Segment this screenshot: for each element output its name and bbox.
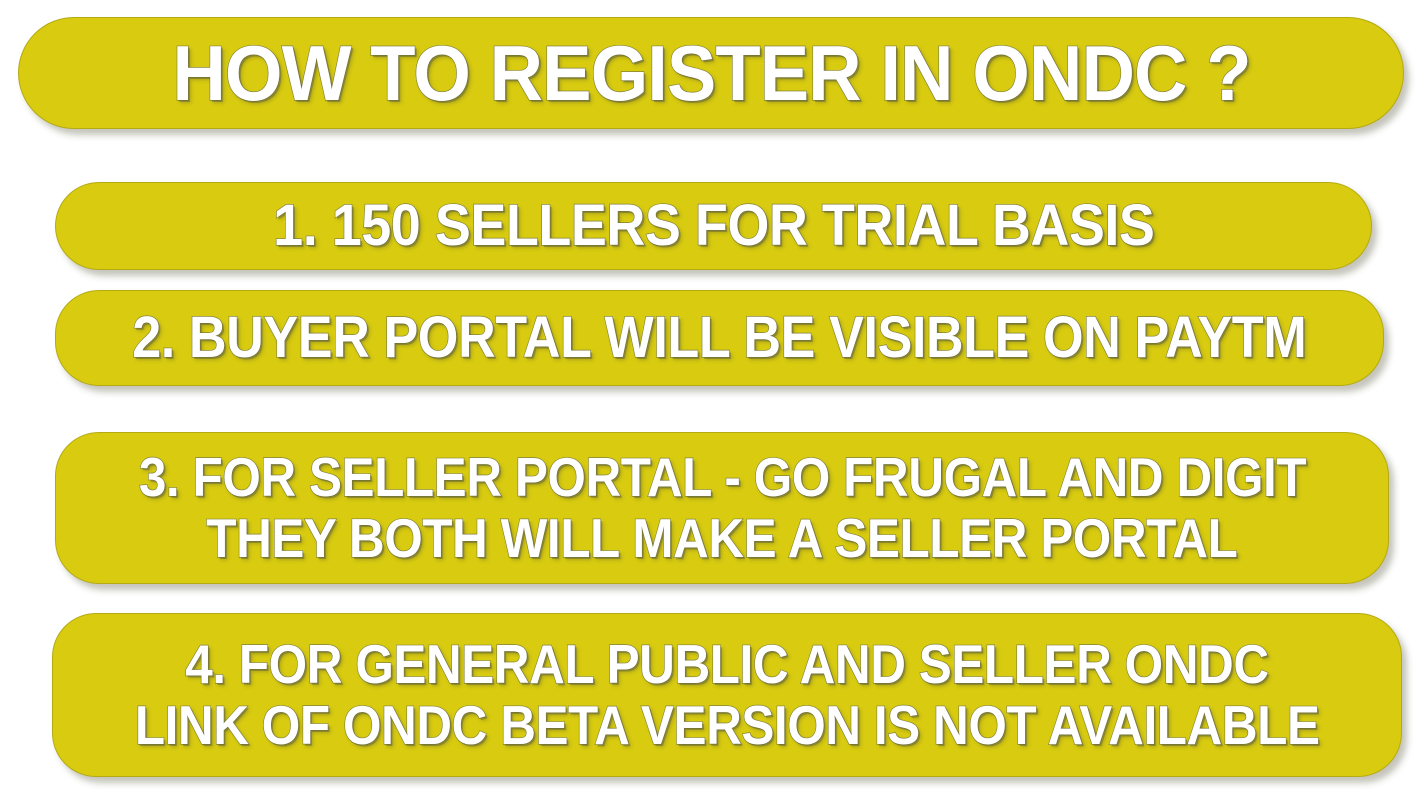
point-2-line-1: 2. BUYER PORTAL WILL BE VISIBLE ON PAYTM — [132, 309, 1306, 367]
point-bar-3: 3. FOR SELLER PORTAL - GO FRUGAL AND DIG… — [55, 432, 1389, 584]
point-3-line-1: 3. FOR SELLER PORTAL - GO FRUGAL AND DIG… — [138, 450, 1305, 505]
point-1-line-1: 1. 150 SELLERS FOR TRIAL BASIS — [273, 197, 1154, 255]
infographic-slide: HOW TO REGISTER IN ONDC ? 1. 150 SELLERS… — [0, 0, 1422, 800]
page-title: HOW TO REGISTER IN ONDC ? — [172, 34, 1250, 112]
point-bar-4: 4. FOR GENERAL PUBLIC AND SELLER ONDC LI… — [52, 613, 1402, 777]
title-banner: HOW TO REGISTER IN ONDC ? — [18, 17, 1404, 129]
point-3-line-2: THEY BOTH WILL MAKE A SELLER PORTAL — [206, 511, 1237, 566]
point-bar-2: 2. BUYER PORTAL WILL BE VISIBLE ON PAYTM — [55, 290, 1384, 386]
point-bar-1: 1. 150 SELLERS FOR TRIAL BASIS — [55, 182, 1372, 270]
point-4-line-1: 4. FOR GENERAL PUBLIC AND SELLER ONDC — [185, 637, 1268, 692]
point-4-line-2: LINK OF ONDC BETA VERSION IS NOT AVAILAB… — [135, 698, 1320, 753]
